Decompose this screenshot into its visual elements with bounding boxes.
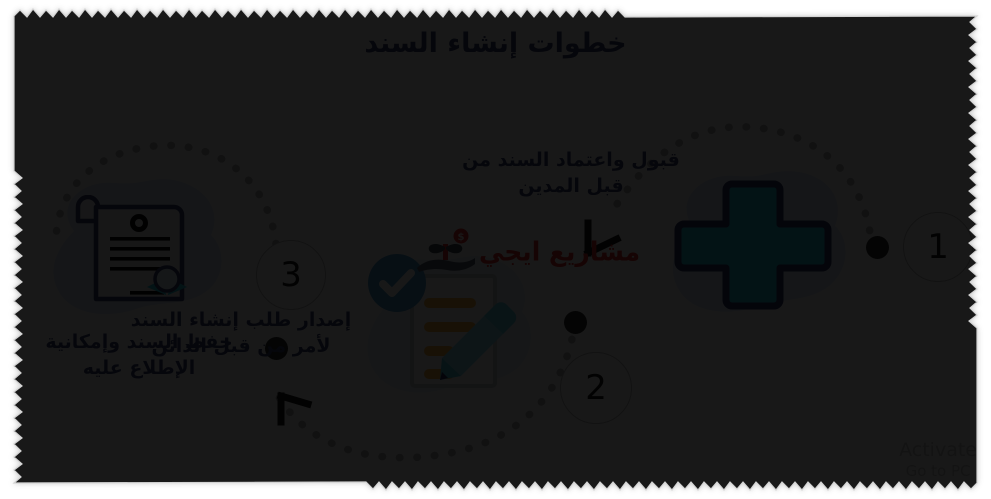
step-number-1[interactable]: 1 [903, 212, 973, 282]
activation-line-1: Activate [899, 439, 977, 463]
svg-text:$: $ [458, 232, 465, 243]
step-number-3[interactable]: 3 [256, 240, 326, 310]
step-number-2[interactable]: 2 [560, 352, 632, 424]
step-2-caption: قبول واعتماد السند من قبل المدين [441, 148, 701, 199]
hand-plant-dollar-icon: $ [413, 228, 477, 274]
step-3-caption: حفظ السند وإمكانية الإطلاع عليه [5, 330, 273, 381]
activation-line-2: Go to PC [899, 462, 977, 481]
step-2-caption-line-1: قبول واعتماد السند من [441, 148, 701, 174]
path-dot-step1 [866, 236, 889, 259]
step-3-caption-line-2: الإطلاع عليه [5, 356, 273, 382]
brand-watermark: مشاريع ايجي $ [413, 228, 640, 274]
step-number-2-label: 2 [585, 368, 607, 408]
path-dot-step2 [564, 311, 587, 334]
step-3-caption-line-1: حفظ السند وإمكانية [5, 330, 273, 356]
infographic-canvas: خطوات إنشاء السند 1 إصدار طلب إنشاء السن… [0, 0, 991, 499]
step-2-caption-line-2: قبل المدين [441, 174, 701, 200]
windows-activation-watermark: Activate Go to PC [899, 439, 977, 482]
page-title: خطوات إنشاء السند [0, 28, 991, 59]
arrow-marker-lower [281, 396, 308, 422]
step-number-3-label: 3 [280, 255, 302, 295]
brand-watermark-text: مشاريع ايجي [479, 236, 640, 266]
certificate-scroll-icon [70, 195, 200, 305]
step-number-1-label: 1 [927, 227, 949, 267]
